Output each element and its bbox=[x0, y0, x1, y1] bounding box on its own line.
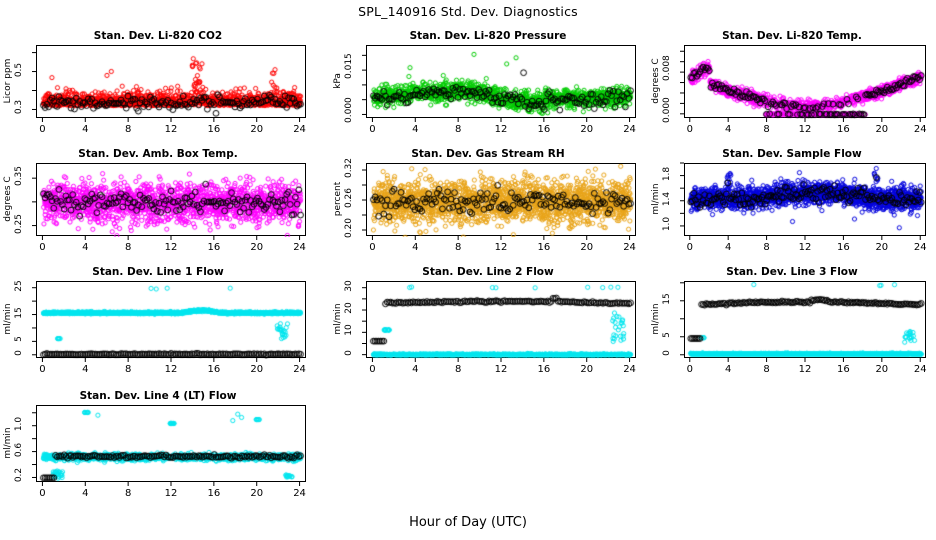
x-tick-label: 4 bbox=[716, 242, 740, 253]
y-tick-label: 0.26 bbox=[344, 187, 354, 209]
x-tick-label: 8 bbox=[755, 364, 779, 375]
x-tick-label: 0 bbox=[360, 242, 384, 253]
x-tick-label: 0 bbox=[360, 124, 384, 135]
x-tick-label: 16 bbox=[831, 242, 855, 253]
x-tick-label: 16 bbox=[831, 364, 855, 375]
y-tick-label: 0.000 bbox=[662, 101, 672, 123]
y-axis-label-amb-box-temp: degrees C bbox=[3, 171, 13, 227]
y-tick-label: 0.000 bbox=[344, 101, 354, 123]
y-axis-label-li820-temp: degrees C bbox=[651, 53, 661, 109]
x-tick-label: 20 bbox=[870, 124, 894, 135]
y-tick-label: 0.015 bbox=[344, 57, 354, 79]
x-tick-label: 4 bbox=[716, 364, 740, 375]
x-tick-label: 16 bbox=[202, 488, 226, 499]
x-tick-label: 12 bbox=[159, 124, 183, 135]
x-tick-label: 8 bbox=[116, 124, 140, 135]
x-tick-label: 20 bbox=[245, 124, 269, 135]
y-tick-label: 15 bbox=[14, 302, 24, 324]
x-tick-label: 20 bbox=[575, 242, 599, 253]
x-tick-label: 24 bbox=[288, 364, 312, 375]
x-tick-label: 4 bbox=[716, 124, 740, 135]
x-tick-label: 0 bbox=[678, 124, 702, 135]
y-tick-label: 1.8 bbox=[662, 163, 672, 185]
y-tick-label: 5 bbox=[14, 328, 24, 350]
y-tick-label: 1.4 bbox=[662, 188, 672, 210]
x-tick-label: 20 bbox=[870, 242, 894, 253]
y-axis-label-line1-flow: ml/min bbox=[3, 291, 13, 347]
x-tick-label: 12 bbox=[793, 242, 817, 253]
y-tick-label: 10 bbox=[344, 319, 354, 341]
x-tick-label: 4 bbox=[73, 242, 97, 253]
plot-panel-line2-flow: Stan. Dev. Line 2 Flow010203004812162024… bbox=[330, 266, 646, 388]
x-tick-label: 24 bbox=[908, 242, 932, 253]
plot-panel-li820-co2: Stan. Dev. Li-820 CO20.30.504812162024Li… bbox=[0, 30, 316, 148]
x-tick-label: 4 bbox=[73, 124, 97, 135]
x-tick-label: 20 bbox=[245, 364, 269, 375]
x-tick-label: 4 bbox=[403, 364, 427, 375]
y-tick-label: 15 bbox=[662, 288, 672, 310]
x-tick-label: 12 bbox=[489, 364, 513, 375]
plot-panel-line4-lt-flow: Stan. Dev. Line 4 (LT) Flow0.20.61.00481… bbox=[0, 390, 316, 512]
x-tick-label: 8 bbox=[116, 488, 140, 499]
x-tick-label: 16 bbox=[202, 242, 226, 253]
y-tick-label: 0.3 bbox=[14, 96, 24, 118]
x-tick-label: 4 bbox=[73, 488, 97, 499]
x-tick-label: 12 bbox=[159, 364, 183, 375]
x-tick-label: 24 bbox=[618, 242, 642, 253]
x-tick-label: 12 bbox=[159, 242, 183, 253]
x-axis-label: Hour of Day (UTC) bbox=[0, 515, 936, 530]
plot-panel-amb-box-temp: Stan. Dev. Amb. Box Temp.0.250.350481216… bbox=[0, 148, 316, 266]
x-tick-label: 24 bbox=[908, 364, 932, 375]
y-tick-label: 0.25 bbox=[14, 213, 24, 235]
x-tick-label: 20 bbox=[245, 242, 269, 253]
x-tick-label: 4 bbox=[403, 124, 427, 135]
y-tick-label: 0.2 bbox=[14, 464, 24, 486]
x-tick-label: 12 bbox=[793, 124, 817, 135]
x-tick-label: 16 bbox=[831, 124, 855, 135]
x-tick-label: 0 bbox=[360, 364, 384, 375]
y-tick-label: 0.35 bbox=[14, 165, 24, 187]
page-title: SPL_140916 Std. Dev. Diagnostics bbox=[0, 4, 936, 19]
x-tick-label: 12 bbox=[489, 124, 513, 135]
x-tick-label: 0 bbox=[30, 488, 54, 499]
x-tick-label: 0 bbox=[30, 364, 54, 375]
y-tick-label: 1.0 bbox=[14, 413, 24, 435]
y-tick-label: 25 bbox=[14, 275, 24, 297]
x-tick-label: 16 bbox=[532, 364, 556, 375]
x-tick-label: 4 bbox=[403, 242, 427, 253]
x-tick-label: 12 bbox=[489, 242, 513, 253]
plot-panel-li820-pressure: Stan. Dev. Li-820 Pressure0.0000.0150481… bbox=[330, 30, 646, 148]
y-tick-label: 20 bbox=[344, 297, 354, 319]
x-tick-label: 8 bbox=[446, 364, 470, 375]
y-tick-label: 0.5 bbox=[14, 59, 24, 81]
y-axis-label-li820-co2: Licor ppm bbox=[3, 53, 13, 109]
x-tick-label: 8 bbox=[755, 124, 779, 135]
x-tick-label: 16 bbox=[532, 242, 556, 253]
x-tick-label: 24 bbox=[618, 364, 642, 375]
x-tick-label: 16 bbox=[202, 364, 226, 375]
plot-panel-line1-flow: Stan. Dev. Line 1 Flow05152504812162024m… bbox=[0, 266, 316, 388]
x-tick-label: 20 bbox=[870, 364, 894, 375]
y-tick-label: 1.0 bbox=[662, 213, 672, 235]
plot-panel-li820-temp: Stan. Dev. Li-820 Temp.0.0000.0080481216… bbox=[648, 30, 936, 148]
y-tick-label: 0 bbox=[344, 342, 354, 364]
x-tick-label: 16 bbox=[202, 124, 226, 135]
x-tick-label: 4 bbox=[73, 364, 97, 375]
x-tick-label: 12 bbox=[159, 488, 183, 499]
y-axis-label-line2-flow: ml/min bbox=[333, 291, 343, 347]
x-tick-label: 20 bbox=[575, 364, 599, 375]
x-tick-label: 24 bbox=[288, 242, 312, 253]
y-axis-label-line3-flow: ml/min bbox=[651, 291, 661, 347]
y-axis-label-li820-pressure: kPa bbox=[333, 53, 343, 109]
y-tick-label: 5 bbox=[662, 324, 672, 346]
x-tick-label: 12 bbox=[793, 364, 817, 375]
x-tick-label: 8 bbox=[446, 124, 470, 135]
x-tick-label: 0 bbox=[30, 124, 54, 135]
x-tick-label: 0 bbox=[678, 242, 702, 253]
x-tick-label: 24 bbox=[618, 124, 642, 135]
x-tick-label: 24 bbox=[288, 488, 312, 499]
x-tick-label: 24 bbox=[908, 124, 932, 135]
plot-panel-gas-stream-rh: Stan. Dev. Gas Stream RH0.200.260.320481… bbox=[330, 148, 646, 266]
y-tick-label: 0.008 bbox=[662, 59, 672, 81]
plot-panel-sample-flow: Stan. Dev. Sample Flow1.01.41.8048121620… bbox=[648, 148, 936, 266]
x-tick-label: 8 bbox=[116, 364, 140, 375]
x-tick-label: 0 bbox=[678, 364, 702, 375]
y-tick-label: 0.20 bbox=[344, 217, 354, 239]
x-tick-label: 8 bbox=[116, 242, 140, 253]
x-tick-label: 8 bbox=[755, 242, 779, 253]
y-tick-label: 0.32 bbox=[344, 157, 354, 179]
y-axis-label-line4-lt-flow: ml/min bbox=[3, 415, 13, 471]
x-tick-label: 24 bbox=[288, 124, 312, 135]
x-tick-label: 0 bbox=[30, 242, 54, 253]
y-axis-label-sample-flow: ml/min bbox=[651, 171, 661, 227]
y-tick-label: 30 bbox=[344, 275, 354, 297]
plot-panel-line3-flow: Stan. Dev. Line 3 Flow051504812162024ml/… bbox=[648, 266, 936, 388]
x-tick-label: 16 bbox=[532, 124, 556, 135]
x-tick-label: 20 bbox=[245, 488, 269, 499]
y-tick-label: 0.6 bbox=[14, 439, 24, 461]
x-tick-label: 8 bbox=[446, 242, 470, 253]
y-axis-label-gas-stream-rh: percent bbox=[333, 171, 343, 227]
x-tick-label: 20 bbox=[575, 124, 599, 135]
